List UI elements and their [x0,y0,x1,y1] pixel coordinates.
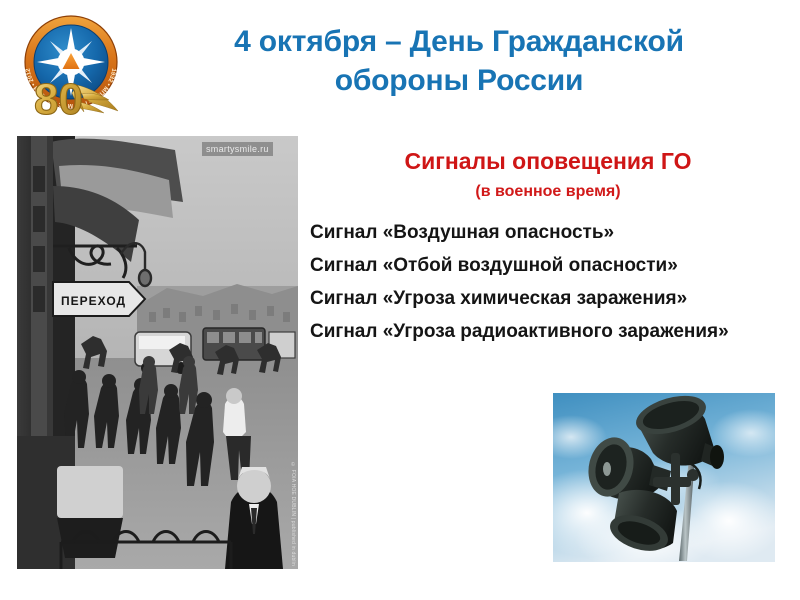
list-item: Сигнал «Воздушная опасность» [310,216,793,249]
signals-panel: Сигналы оповещения ГО (в военное время) … [303,146,793,348]
list-item: Сигнал «Угроза химическая заражения» [310,282,793,315]
historic-street-photo: ПЕРЕХОД [17,136,298,569]
svg-text:ПЕРЕХОД: ПЕРЕХОД [61,294,126,308]
perehod-sign: ПЕРЕХОД [53,282,145,316]
list-item: Сигнал «Угроза радиоактивного заражения» [310,315,793,348]
signals-subheading: (в военное время) [303,179,793,205]
signals-list: Сигнал «Воздушная опасность» Сигнал «Отб… [303,216,793,348]
signals-heading: Сигналы оповещения ГО [303,146,793,176]
page-title-line-2: обороны России [128,61,790,100]
photo-watermark: smartysmile.ru [202,142,273,156]
emblem-anniversary-80: 80 [34,75,83,124]
svg-text:80: 80 [34,75,83,124]
page-title-line-1: 4 октября – День Гражданской [128,22,790,61]
page-title: 4 октября – День Гражданской обороны Рос… [128,22,790,100]
loudspeaker-photo [553,393,775,562]
photo-credit: © FOIA HOE DUBLIN | published in dublin [286,462,296,568]
mchs-emblem: 1932 • МПВО • ГО • МЧС РОССИИ • 2012 [14,8,128,124]
list-item: Сигнал «Отбой воздушной опасности» [310,249,793,282]
